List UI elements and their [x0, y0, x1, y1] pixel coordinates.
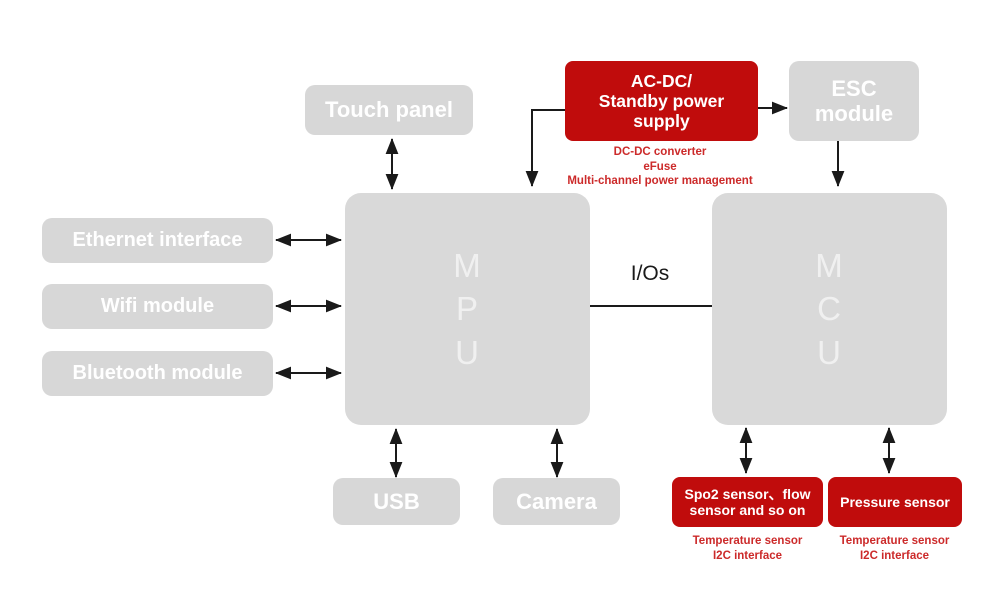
mcu-letter-m: M: [815, 244, 844, 288]
block-touch-panel[interactable]: Touch panel: [305, 85, 473, 135]
block-ethernet-interface[interactable]: Ethernet interface: [42, 218, 273, 263]
mcu-letter-c: C: [817, 287, 842, 331]
caption-spo2-sensor: Temperature sensor I2C interface: [667, 534, 828, 563]
block-mcu[interactable]: M C U: [712, 193, 947, 425]
mpu-letter-u: U: [455, 331, 480, 375]
mpu-letter-p: P: [456, 287, 479, 331]
diagram-canvas: Touch panel Ethernet interface Wifi modu…: [0, 0, 1000, 600]
caption-power-supply: DC-DC converter eFuse Multi-channel powe…: [540, 145, 780, 189]
block-pressure-sensor[interactable]: Pressure sensor: [828, 477, 962, 527]
block-power-supply[interactable]: AC-DC/ Standby power supply: [565, 61, 758, 141]
block-spo2-sensor[interactable]: Spo2 sensor、flow sensor and so on: [672, 477, 823, 527]
caption-pressure-sensor: Temperature sensor I2C interface: [814, 534, 975, 563]
mpu-letter-m: M: [453, 244, 482, 288]
label-ios: I/Os: [600, 262, 700, 286]
block-usb[interactable]: USB: [333, 478, 460, 525]
block-bluetooth-module[interactable]: Bluetooth module: [42, 351, 273, 396]
block-wifi-module[interactable]: Wifi module: [42, 284, 273, 329]
block-esc-module[interactable]: ESC module: [789, 61, 919, 141]
block-mpu[interactable]: M P U: [345, 193, 590, 425]
mcu-letter-u: U: [817, 331, 842, 375]
block-camera[interactable]: Camera: [493, 478, 620, 525]
